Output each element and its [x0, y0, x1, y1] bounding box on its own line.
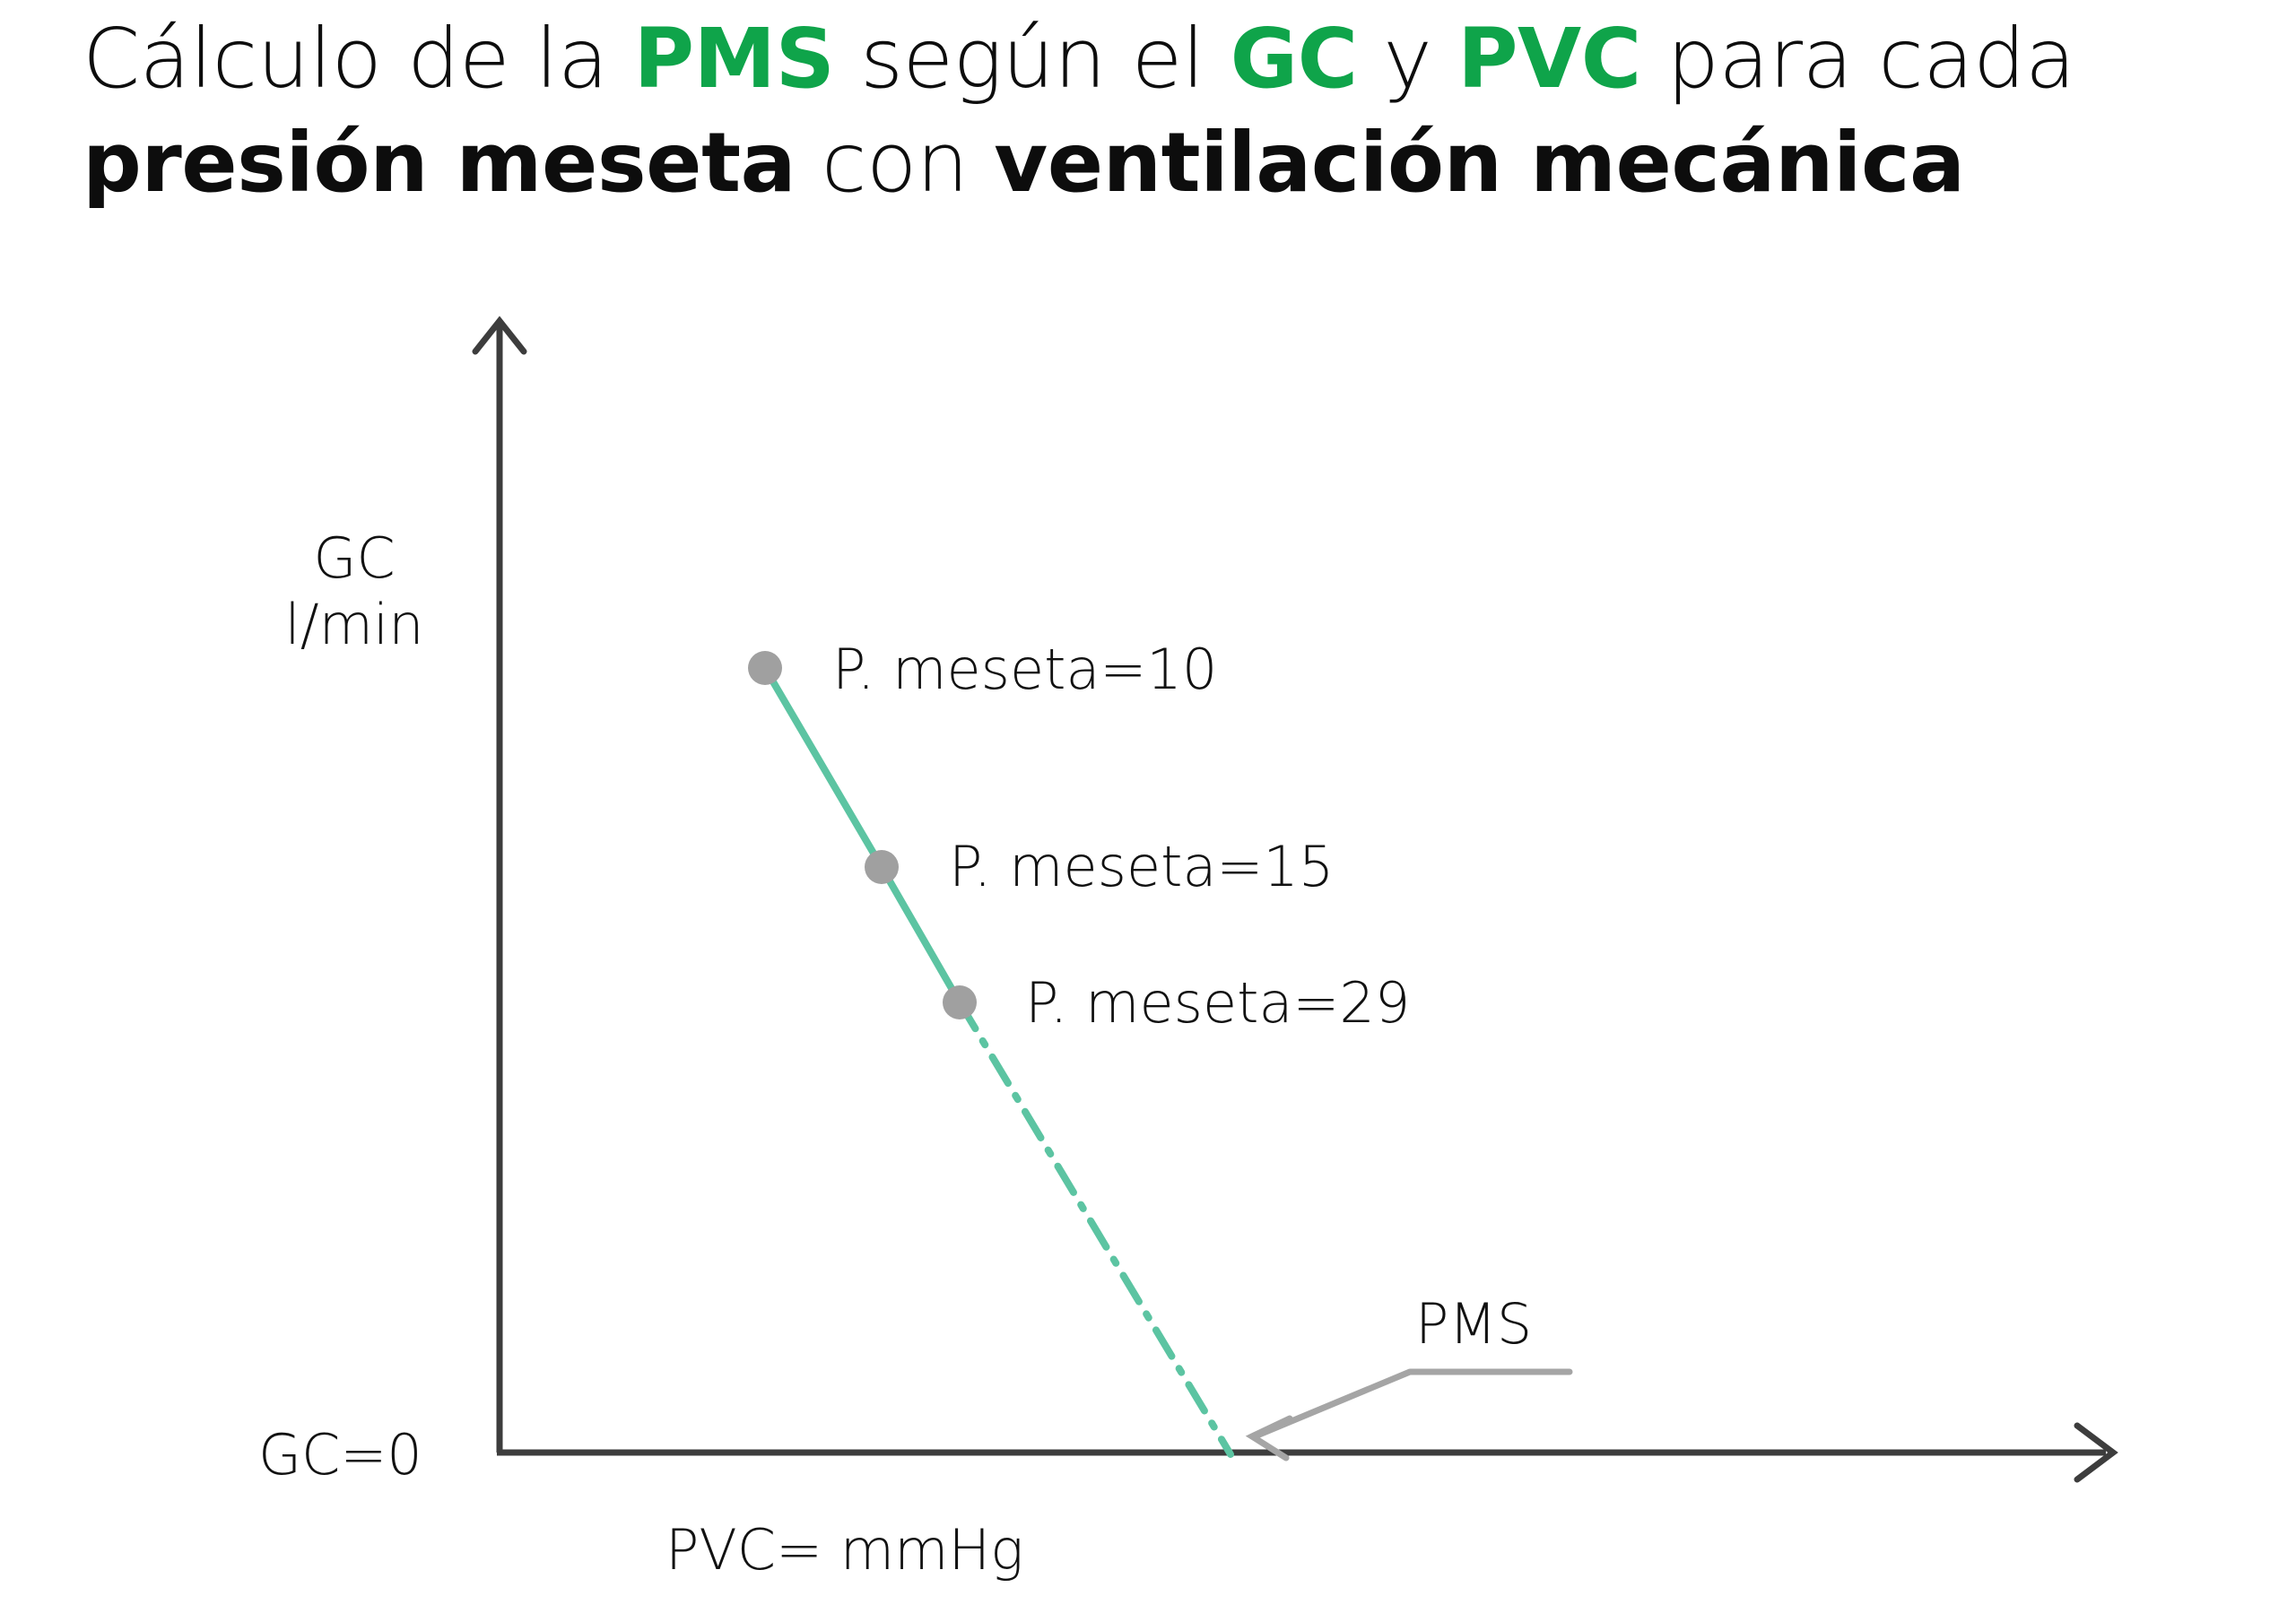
- y-axis-label-line-1: GC: [251, 525, 457, 592]
- data-point-marker[interactable]: [865, 850, 899, 884]
- data-point-label: P. meseta=15: [949, 834, 1334, 899]
- y-axis-label-line-2: l/min: [251, 592, 457, 658]
- data-point-marker[interactable]: [943, 985, 977, 1019]
- data-point-label: P. meseta=29: [1025, 970, 1410, 1036]
- y-axis: [475, 321, 524, 1453]
- chart-plot-area: [0, 0, 2296, 1622]
- pms-leader-line: [1259, 1372, 1570, 1435]
- y-axis-label: GC l/min: [251, 525, 457, 658]
- gc-zero-label: GC=0: [258, 1422, 422, 1488]
- slide-canvas: Cálculo de la PMS según el GC y PVC para…: [0, 0, 2296, 1622]
- pms-annotation-label: PMS: [1415, 1291, 1532, 1357]
- x-axis: [497, 1426, 2113, 1479]
- data-point-marker[interactable]: [748, 651, 782, 685]
- x-axis-label: PVC= mmHg: [665, 1517, 1023, 1583]
- series-line-solid: [765, 668, 960, 1002]
- series-line-extrapolated: [960, 1002, 1231, 1454]
- pms-callout-leader: [1252, 1372, 1570, 1458]
- data-point-label: P. meseta=10: [832, 637, 1217, 702]
